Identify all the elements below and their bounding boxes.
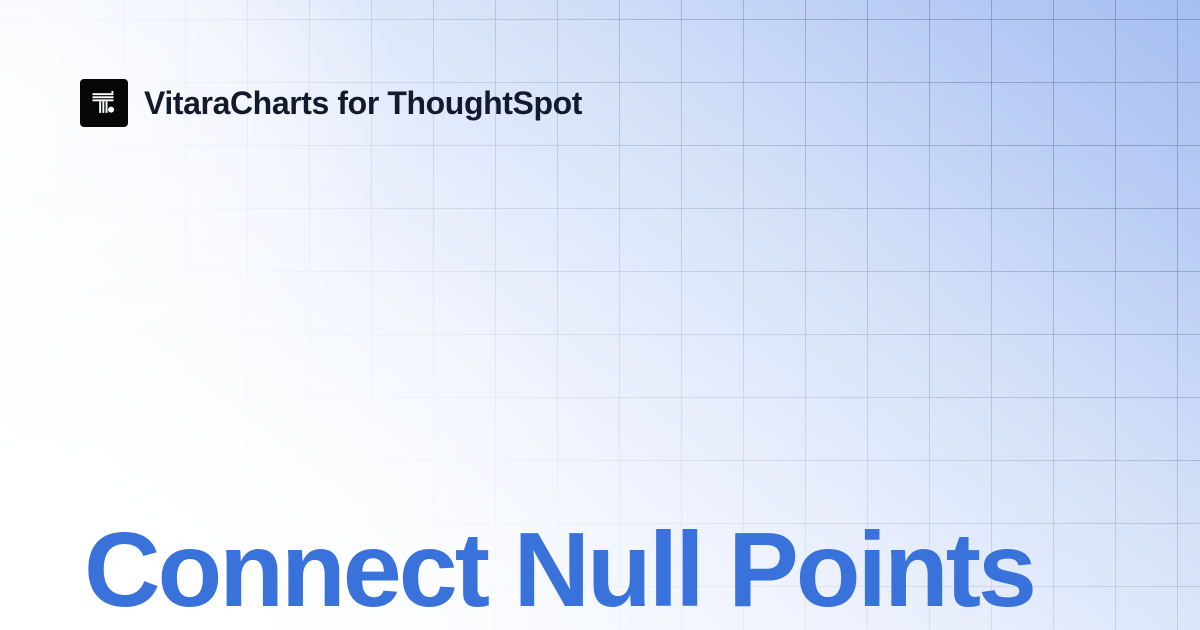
brand-lockup: VitaraCharts for ThoughtSpot	[80, 79, 582, 127]
pillar-column-icon	[89, 88, 119, 118]
brand-name: VitaraCharts for ThoughtSpot	[144, 87, 582, 119]
page-title: Connect Null Points	[84, 515, 1034, 625]
og-banner: VitaraCharts for ThoughtSpot Connect Nul…	[0, 0, 1200, 630]
brand-logo-badge	[80, 79, 128, 127]
